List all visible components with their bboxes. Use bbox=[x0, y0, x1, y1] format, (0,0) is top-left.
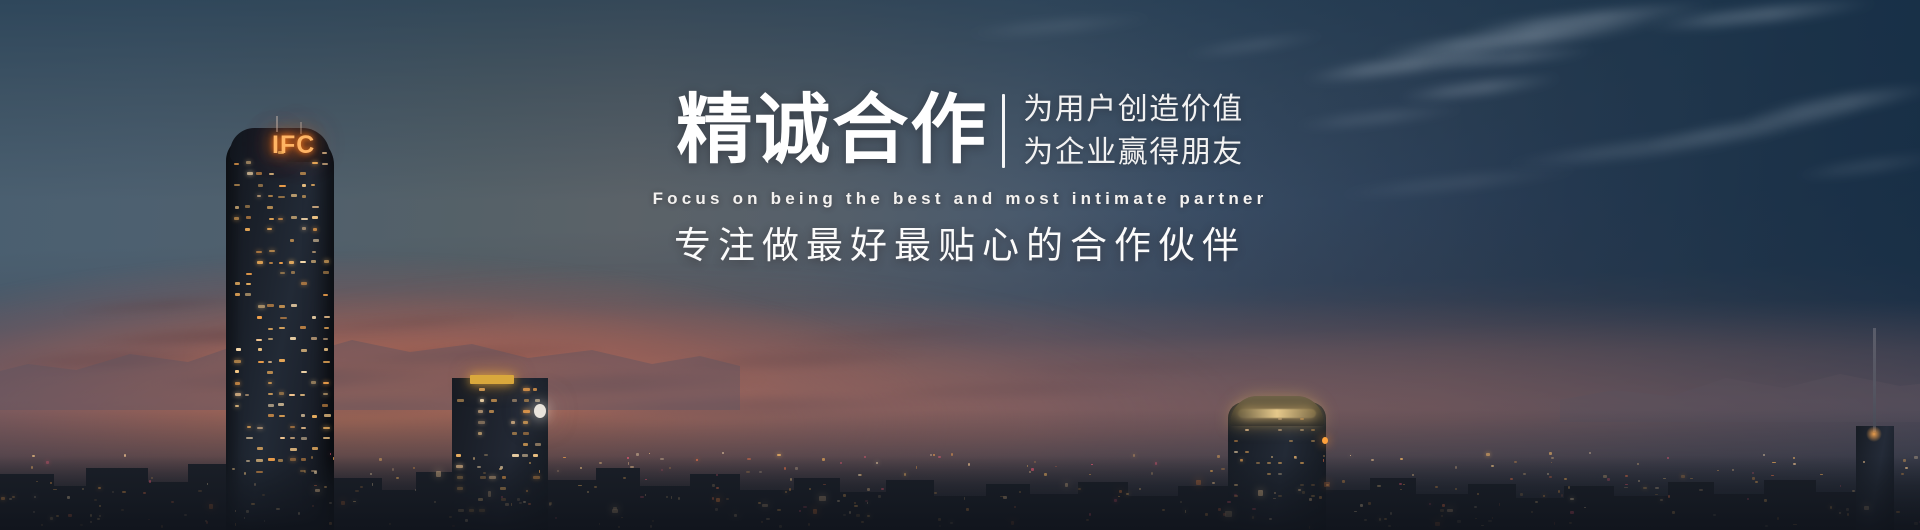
side-slogan-line-1: 为用户创造价值 bbox=[1023, 92, 1244, 128]
rooftop-lamp bbox=[534, 404, 546, 418]
banner-copy: 精诚合作 为用户创造价值 为企业赢得朋友 Focus on being the … bbox=[0, 88, 1920, 269]
hero-banner: IFC 精诚合作 为用户创造价值 为企业赢得朋友 Focus on being … bbox=[0, 0, 1920, 530]
english-tagline: Focus on being the best and most intimat… bbox=[653, 188, 1268, 210]
rooftop-sign-light bbox=[470, 375, 514, 384]
dome-amber-light bbox=[1322, 437, 1328, 444]
dome-roof-glint bbox=[1238, 409, 1316, 418]
page-title: 精诚合作 bbox=[676, 88, 988, 174]
antenna-spire bbox=[1873, 328, 1876, 432]
side-slogan-column: 为用户创造价值 为企业赢得朋友 bbox=[1023, 92, 1244, 171]
antenna-spire-glow bbox=[1866, 426, 1882, 442]
side-slogan-line-2: 为企业赢得朋友 bbox=[1023, 135, 1244, 171]
headline-row: 精诚合作 为用户创造价值 为企业赢得朋友 bbox=[676, 88, 1244, 174]
subheadline: 专注做最好最贴心的合作伙伴 bbox=[674, 223, 1246, 269]
vertical-divider bbox=[1002, 94, 1005, 168]
foreground-silhouette bbox=[0, 456, 1920, 530]
